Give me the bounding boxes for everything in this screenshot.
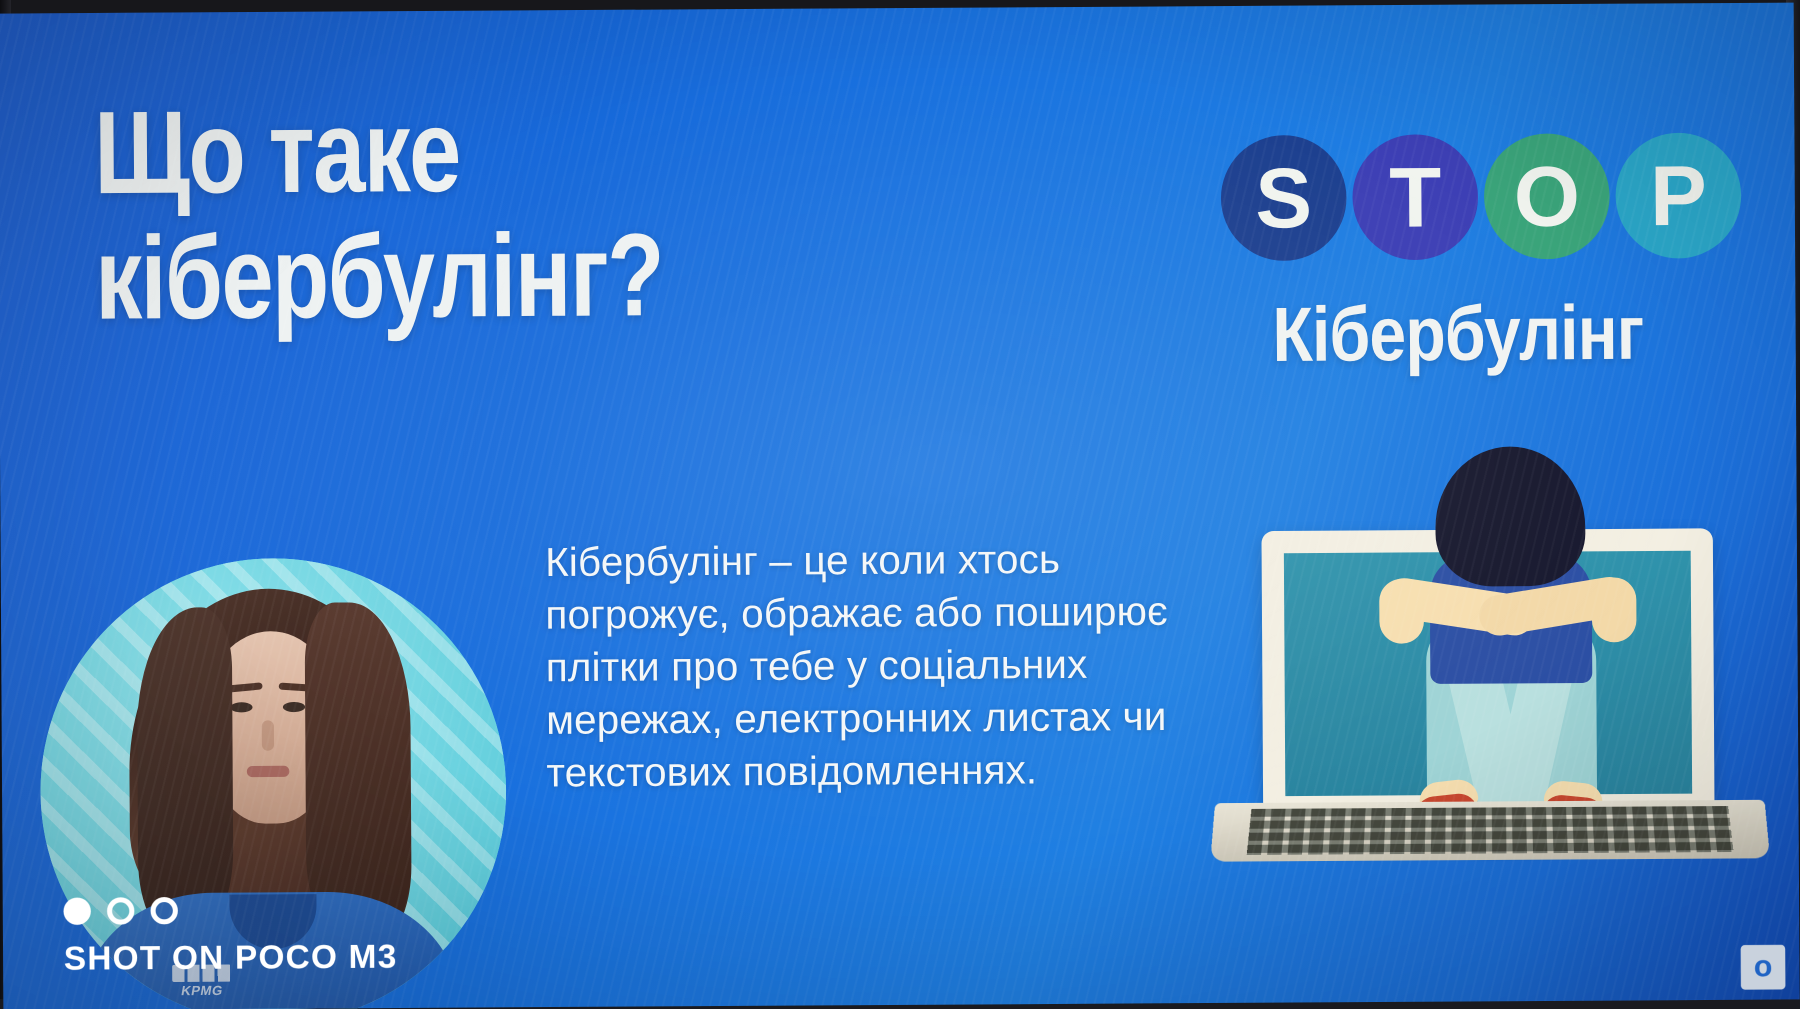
body-line-5: текстових повідомленнях. xyxy=(546,743,1255,800)
figure-forearm-left xyxy=(1379,579,1424,644)
slide-body-text: Кібербулінг – це коли хтось погрожує, об… xyxy=(545,532,1255,799)
stop-letter-s: S xyxy=(1255,155,1312,240)
slide-headline: Що таке кібербулінг? xyxy=(94,92,711,336)
corner-badge-glyph: ο xyxy=(1754,952,1773,982)
figure-forearm-right xyxy=(1592,577,1637,642)
presentation-slide: Що таке кібербулінг? S T O P Кібербулінг… xyxy=(0,3,1800,1009)
logo-brand-word: Кібербулінг xyxy=(1272,295,1643,374)
corner-badge-icon: ο xyxy=(1741,945,1786,990)
stop-letter-o: O xyxy=(1514,154,1581,239)
stop-letter-o-circle: O xyxy=(1484,133,1610,259)
watermark-dot-1-icon xyxy=(63,898,90,925)
laptop-keyboard xyxy=(1247,806,1734,855)
body-line-1: Кібербулінг – це коли хтось xyxy=(545,532,1254,589)
photographed-screen-frame: Що таке кібербулінг? S T O P Кібербулінг… xyxy=(0,0,1800,1009)
stop-letter-p: P xyxy=(1650,153,1707,238)
stop-logo: S T O P xyxy=(1221,132,1742,261)
portrait-hair-strand-left xyxy=(137,607,234,942)
body-line-2: погрожує, ображає або поширює xyxy=(545,585,1254,642)
headline-line-2: кібербулінг? xyxy=(95,217,711,336)
stop-letter-s-circle: S xyxy=(1221,135,1347,261)
watermark-dot-2-icon xyxy=(107,897,134,924)
watermark-dot-3-icon xyxy=(150,897,177,924)
stop-letter-t-circle: T xyxy=(1352,134,1478,260)
body-line-4: мережах, електронних листах чи xyxy=(546,690,1255,747)
portrait-nose xyxy=(262,720,274,750)
watermark-text: SHOT ON POCO M3 xyxy=(64,937,398,977)
headline-line-1: Що таке xyxy=(94,92,710,211)
body-line-3: плітки про тебе у соціальних xyxy=(546,637,1255,694)
stop-letter-p-circle: P xyxy=(1615,132,1741,258)
watermark-lens-dots xyxy=(63,896,397,925)
portrait-mouth xyxy=(247,766,290,777)
figure-hair xyxy=(1435,446,1586,587)
kpmg-wordmark: KPMG xyxy=(180,983,224,998)
laptop-illustration xyxy=(1194,423,1784,892)
stop-letter-t: T xyxy=(1389,155,1441,240)
camera-watermark: SHOT ON POCO M3 xyxy=(63,896,397,978)
